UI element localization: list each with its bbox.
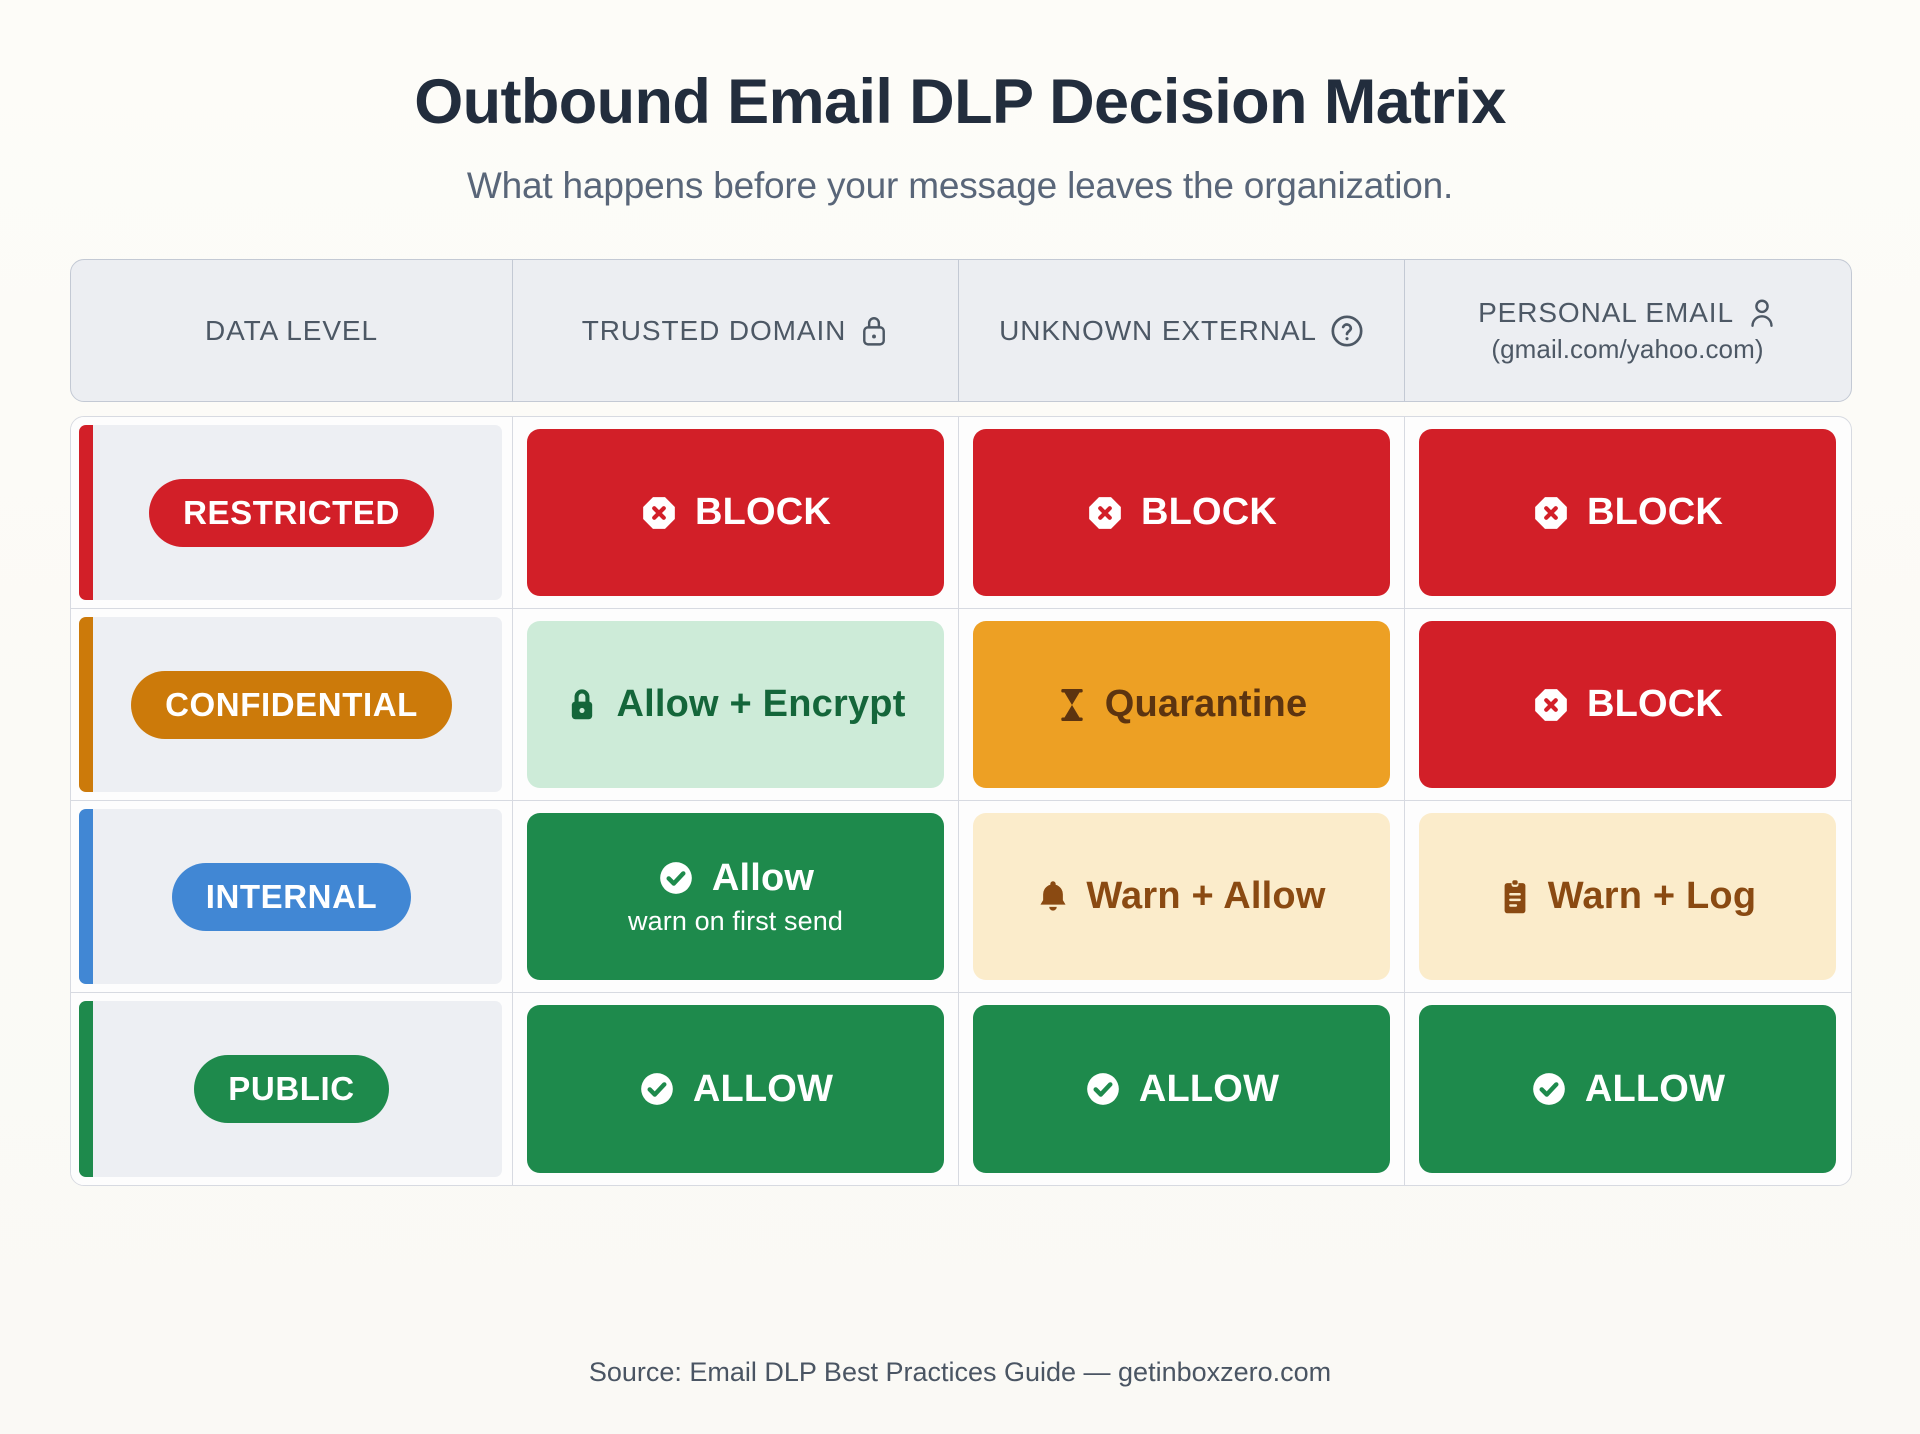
infographic-page: Outbound Email DLP Decision Matrix What …	[0, 0, 1920, 1434]
data-level-cell: INTERNAL	[71, 801, 513, 992]
page-title: Outbound Email DLP Decision Matrix	[70, 68, 1850, 137]
source-footer: Source: Email DLP Best Practices Guide —…	[0, 1357, 1920, 1388]
decision-label: ALLOW	[1585, 1068, 1725, 1111]
decision-chip-warn-allow: Warn + Allow	[973, 813, 1390, 980]
data-level-cell: RESTRICTED	[71, 417, 513, 608]
decision-label: BLOCK	[695, 491, 831, 534]
decision-chip-allow-encrypt: Allow + Encrypt	[527, 621, 944, 788]
decision-label: ALLOW	[1139, 1068, 1279, 1111]
decision-label: Allow + Encrypt	[616, 683, 905, 726]
decision-chip-allow: ALLOW	[527, 1005, 944, 1173]
column-header-personal-email: PERSONAL EMAIL (gmail.com/yahoo.com)	[1405, 260, 1850, 401]
page-subtitle: What happens before your message leaves …	[70, 165, 1850, 207]
block-octagon-icon	[1086, 494, 1124, 532]
decision-cell[interactable]: Warn + Log	[1405, 801, 1850, 992]
decision-chip-allow: ALLOW	[973, 1005, 1390, 1173]
decision-sublabel: warn on first send	[628, 906, 843, 937]
hourglass-icon	[1056, 686, 1088, 724]
lock-filled-icon	[565, 686, 599, 724]
decision-chip-warn-log: Warn + Log	[1419, 813, 1836, 980]
decision-chip-quarantine: Quarantine	[973, 621, 1390, 788]
data-level-cell: CONFIDENTIAL	[71, 609, 513, 800]
decision-chip-block: BLOCK	[1419, 621, 1836, 788]
decision-cell[interactable]: ALLOW	[959, 993, 1405, 1185]
table-row: RESTRICTED BLOCK	[71, 417, 1851, 609]
row-accent-bar	[79, 617, 93, 792]
bell-icon	[1037, 878, 1069, 916]
question-circle-icon	[1330, 314, 1364, 348]
row-accent-bar	[79, 425, 93, 600]
row-accent-bar	[79, 809, 93, 984]
clipboard-icon	[1499, 878, 1531, 916]
check-circle-icon	[1084, 1070, 1122, 1108]
decision-cell[interactable]: Allow + Encrypt	[513, 609, 959, 800]
column-header-trusted-domain: TRUSTED DOMAIN	[513, 260, 959, 401]
decision-cell[interactable]: ALLOW	[1405, 993, 1850, 1185]
decision-cell[interactable]: BLOCK	[513, 417, 959, 608]
block-octagon-icon	[640, 494, 678, 532]
decision-cell[interactable]: ALLOW	[513, 993, 959, 1185]
column-header-unknown-external: UNKNOWN EXTERNAL	[959, 260, 1405, 401]
decision-cell[interactable]: BLOCK	[959, 417, 1405, 608]
person-icon	[1747, 296, 1777, 330]
decision-chip-block: BLOCK	[973, 429, 1390, 596]
decision-label: Quarantine	[1105, 683, 1308, 726]
check-circle-icon	[1530, 1070, 1568, 1108]
check-circle-icon	[638, 1070, 676, 1108]
level-badge-internal: INTERNAL	[172, 863, 412, 931]
block-octagon-icon	[1532, 494, 1570, 532]
decision-chip-allow: Allow warn on first send	[527, 813, 944, 980]
matrix-header-row: DATA LEVEL TRUSTED DOMAIN	[70, 259, 1852, 402]
decision-cell[interactable]: BLOCK	[1405, 417, 1850, 608]
column-header-sublabel: (gmail.com/yahoo.com)	[1491, 334, 1763, 365]
column-header-label: DATA LEVEL	[205, 315, 378, 347]
block-octagon-icon	[1532, 686, 1570, 724]
decision-label: Warn + Log	[1548, 875, 1757, 918]
column-header-label: UNKNOWN EXTERNAL	[999, 315, 1317, 347]
decision-matrix: DATA LEVEL TRUSTED DOMAIN	[70, 259, 1852, 1186]
decision-chip-block: BLOCK	[1419, 429, 1836, 596]
decision-label: BLOCK	[1141, 491, 1277, 534]
table-row: INTERNAL Allow warn on first send	[71, 801, 1851, 993]
decision-cell[interactable]: BLOCK	[1405, 609, 1850, 800]
lock-icon	[859, 314, 889, 348]
row-accent-bar	[79, 1001, 93, 1177]
level-badge-public: PUBLIC	[194, 1055, 388, 1123]
check-circle-icon	[657, 859, 695, 897]
decision-label: Allow	[712, 857, 814, 900]
decision-cell[interactable]: Warn + Allow	[959, 801, 1405, 992]
decision-label: BLOCK	[1587, 683, 1723, 726]
level-badge-confidential: CONFIDENTIAL	[131, 671, 452, 739]
decision-label: Warn + Allow	[1086, 875, 1325, 918]
decision-label: BLOCK	[1587, 491, 1723, 534]
table-row: PUBLIC ALLOW	[71, 993, 1851, 1185]
column-header-label: PERSONAL EMAIL	[1478, 297, 1734, 329]
decision-chip-block: BLOCK	[527, 429, 944, 596]
matrix-body: RESTRICTED BLOCK	[70, 416, 1852, 1186]
table-row: CONFIDENTIAL Allow + En	[71, 609, 1851, 801]
column-header-data-level: DATA LEVEL	[71, 260, 513, 401]
level-badge-restricted: RESTRICTED	[149, 479, 434, 547]
decision-cell[interactable]: Allow warn on first send	[513, 801, 959, 992]
decision-cell[interactable]: Quarantine	[959, 609, 1405, 800]
decision-label: ALLOW	[693, 1068, 833, 1111]
data-level-cell: PUBLIC	[71, 993, 513, 1185]
column-header-label: TRUSTED DOMAIN	[582, 315, 847, 347]
decision-chip-allow: ALLOW	[1419, 1005, 1836, 1173]
